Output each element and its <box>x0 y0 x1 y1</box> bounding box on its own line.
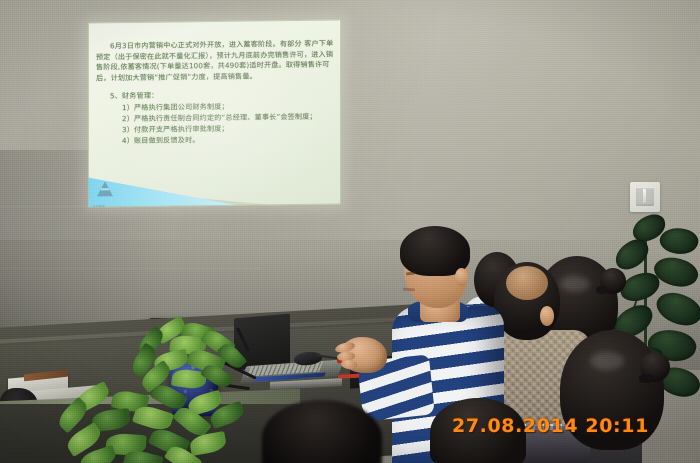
light-switch-highlight <box>643 189 646 203</box>
potted-fern-upper <box>126 322 246 392</box>
photograph: 6月3日市内营销中心正式对外开放，进入蓄客阶段。有部分 客户下单预定（出于保密在… <box>0 0 700 463</box>
hair-tie <box>596 286 608 294</box>
slide-list-item: 4）账目做到反馈及时。 <box>96 134 335 148</box>
slide-logo-caption: 金地集团 <box>93 204 105 207</box>
speaker-ear <box>455 268 468 286</box>
projected-slide: 6月3日市内营销中心正式对外开放，进入蓄客阶段。有部分 客户下单预定（出于保密在… <box>88 19 341 207</box>
slide-text-block: 6月3日市内营销中心正式对外开放，进入蓄客阶段。有部分 客户下单预定（出于保密在… <box>96 39 335 148</box>
slide-paragraph: 6月3日市内营销中心正式对外开放，进入蓄客阶段。有部分 客户下单预定（出于保密在… <box>96 39 335 84</box>
camera-timestamp: 27.08.2014 20:11 <box>452 415 649 437</box>
hair-tie <box>639 374 653 383</box>
speaker-hand <box>341 337 387 373</box>
potted-fern-foreground <box>56 388 246 463</box>
company-logo-icon <box>97 181 113 199</box>
light-switch[interactable] <box>630 182 660 212</box>
